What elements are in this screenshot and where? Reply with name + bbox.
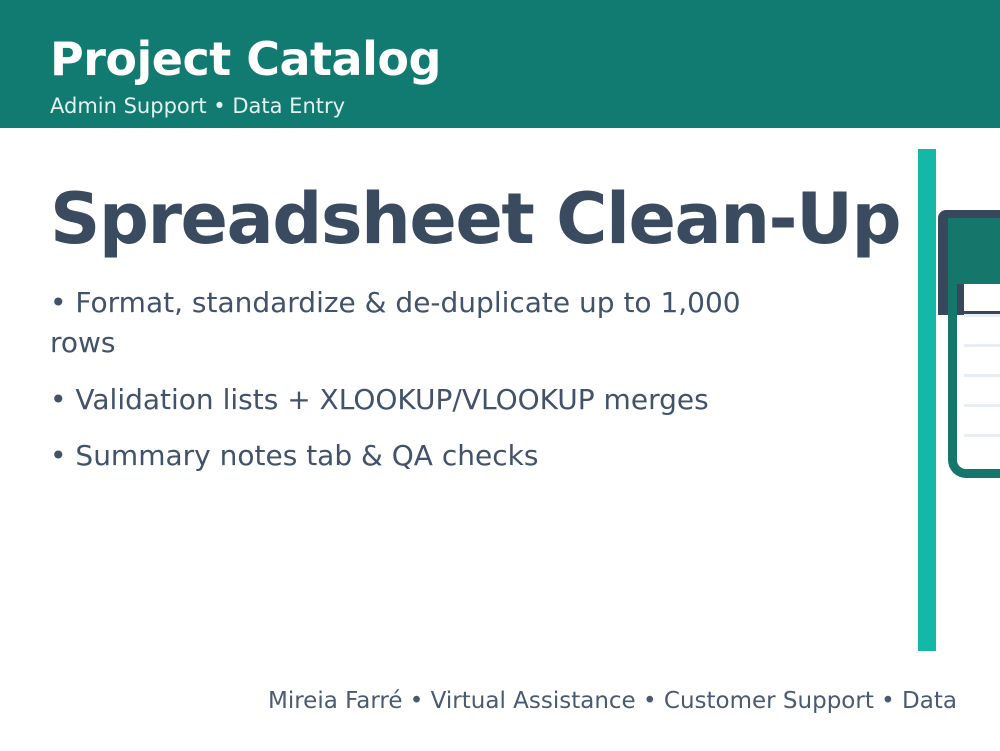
- feature-bullet: • Summary notes tab & QA checks: [50, 436, 750, 476]
- brand-title: Project Catalog: [50, 36, 441, 82]
- feature-bullet: • Validation lists + XLOOKUP/VLOOKUP mer…: [50, 380, 750, 420]
- sheet-cell-row: [964, 344, 1000, 374]
- slide-canvas: Project Catalog Admin Support • Data Ent…: [0, 0, 1000, 751]
- footer-credit: Mireia Farré • Virtual Assistance • Cust…: [268, 690, 957, 713]
- sheet-cell-row: [964, 404, 1000, 434]
- spreadsheet-illustration: [938, 210, 1000, 480]
- feature-bullet: • Format, standardize & de-duplicate up …: [50, 283, 750, 363]
- header-band: Project Catalog Admin Support • Data Ent…: [0, 0, 1000, 128]
- feature-bullet-list: • Format, standardize & de-duplicate up …: [50, 283, 750, 493]
- bottom-strip: [0, 738, 1000, 751]
- sheet-cell-row: [964, 314, 1000, 344]
- sheet-cell-row: [964, 374, 1000, 404]
- service-title: Spreadsheet Clean-Up: [50, 184, 900, 254]
- slide-body: Spreadsheet Clean-Up • Format, standardi…: [0, 128, 1000, 751]
- accent-bar: [918, 149, 936, 651]
- sheet-header-row-icon: [948, 218, 1000, 284]
- sheet-cell-row: [964, 284, 1000, 311]
- sheet-cell-row: [964, 434, 1000, 464]
- brand-subtitle: Admin Support • Data Entry: [50, 96, 345, 117]
